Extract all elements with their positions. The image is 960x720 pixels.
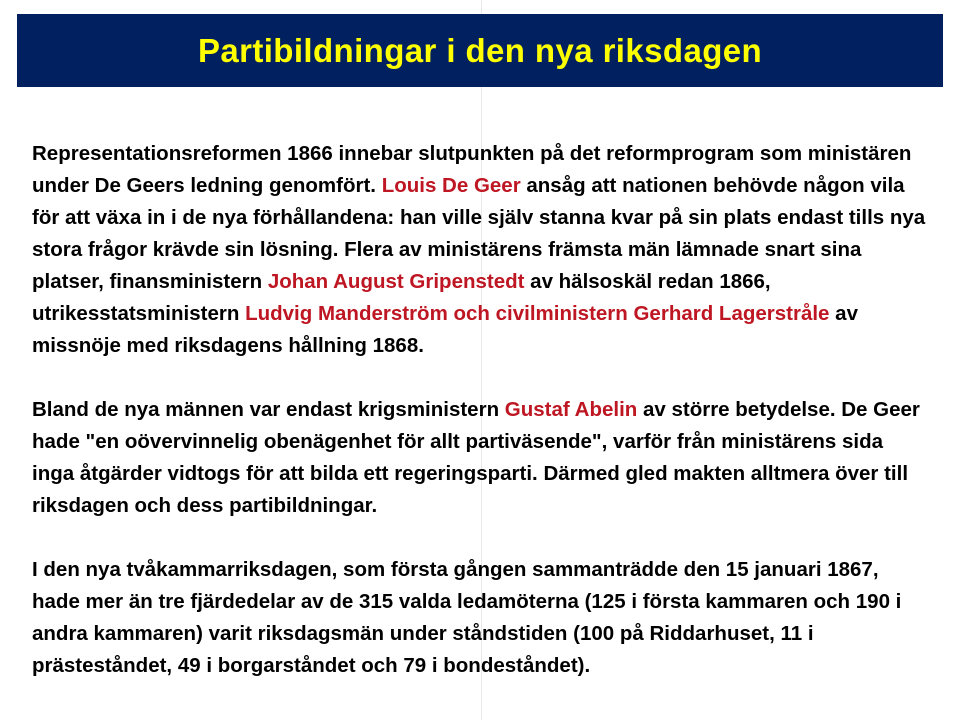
body-text-run: I den nya tvåkammarriksdagen, som första… <box>32 558 901 677</box>
slide-body: Representationsreformen 1866 innebar slu… <box>32 138 928 682</box>
highlighted-name: Louis De Geer <box>382 174 521 197</box>
highlighted-name: Johan August Gripenstedt <box>268 270 525 293</box>
body-paragraph: Bland de nya männen var endast krigsmini… <box>32 394 928 522</box>
slide-title: Partibildningar i den nya riksdagen <box>198 34 762 67</box>
highlighted-name: Ludvig Manderström och civilministern Ge… <box>245 302 829 325</box>
body-text-run: Bland de nya männen var endast krigsmini… <box>32 398 505 421</box>
body-paragraph: Representationsreformen 1866 innebar slu… <box>32 138 928 362</box>
highlighted-name: Gustaf Abelin <box>505 398 638 421</box>
title-banner: Partibildningar i den nya riksdagen <box>17 14 943 87</box>
slide-canvas: Partibildningar i den nya riksdagen Repr… <box>0 0 960 720</box>
body-paragraph: I den nya tvåkammarriksdagen, som första… <box>32 554 928 682</box>
